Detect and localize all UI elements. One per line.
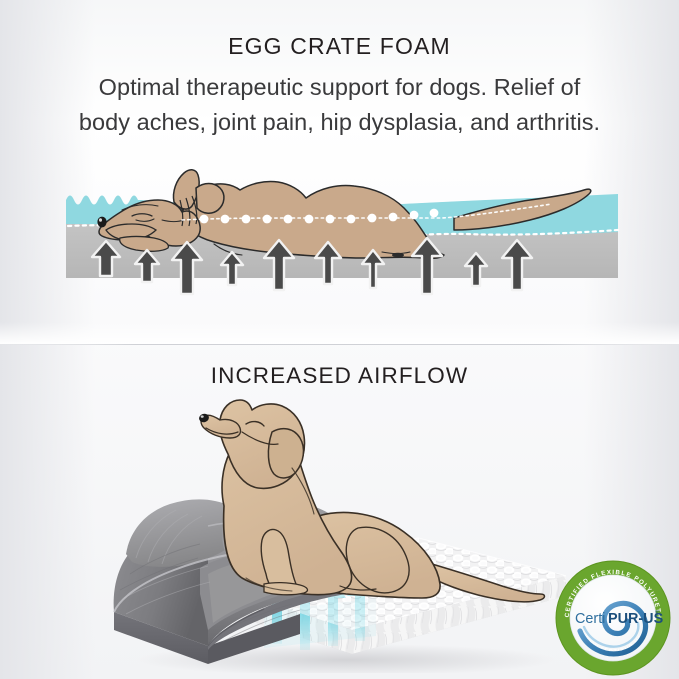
page-title: EGG CRATE FOAM <box>0 33 679 60</box>
panel-egg-crate-foam: EGG CRATE FOAM Optimal therapeutic suppo… <box>0 0 679 344</box>
description-line-1: Optimal therapeutic support for dogs. Re… <box>28 70 651 105</box>
certipur-us-badge: CONTAINS CERTIFIED FLEXIBLE POLYURETHANE… <box>552 557 674 679</box>
badge-word-certi: Certi <box>575 611 605 627</box>
dog-on-egg-crate-mattress-cross-section-illustration <box>62 160 622 315</box>
description-line-2: body aches, joint pain, hip dysplasia, a… <box>28 105 651 140</box>
description-text: Optimal therapeutic support for dogs. Re… <box>28 70 651 140</box>
dog-on-bolster-bed-illustration <box>96 398 586 673</box>
section-title-increased-airflow: INCREASED AIRFLOW <box>0 363 679 389</box>
badge-wordmark: Certi PUR-US ® <box>575 610 664 627</box>
badge-trademark-symbol: ® <box>655 610 660 617</box>
product-feature-infographic: EGG CRATE FOAM Optimal therapeutic suppo… <box>0 0 679 679</box>
